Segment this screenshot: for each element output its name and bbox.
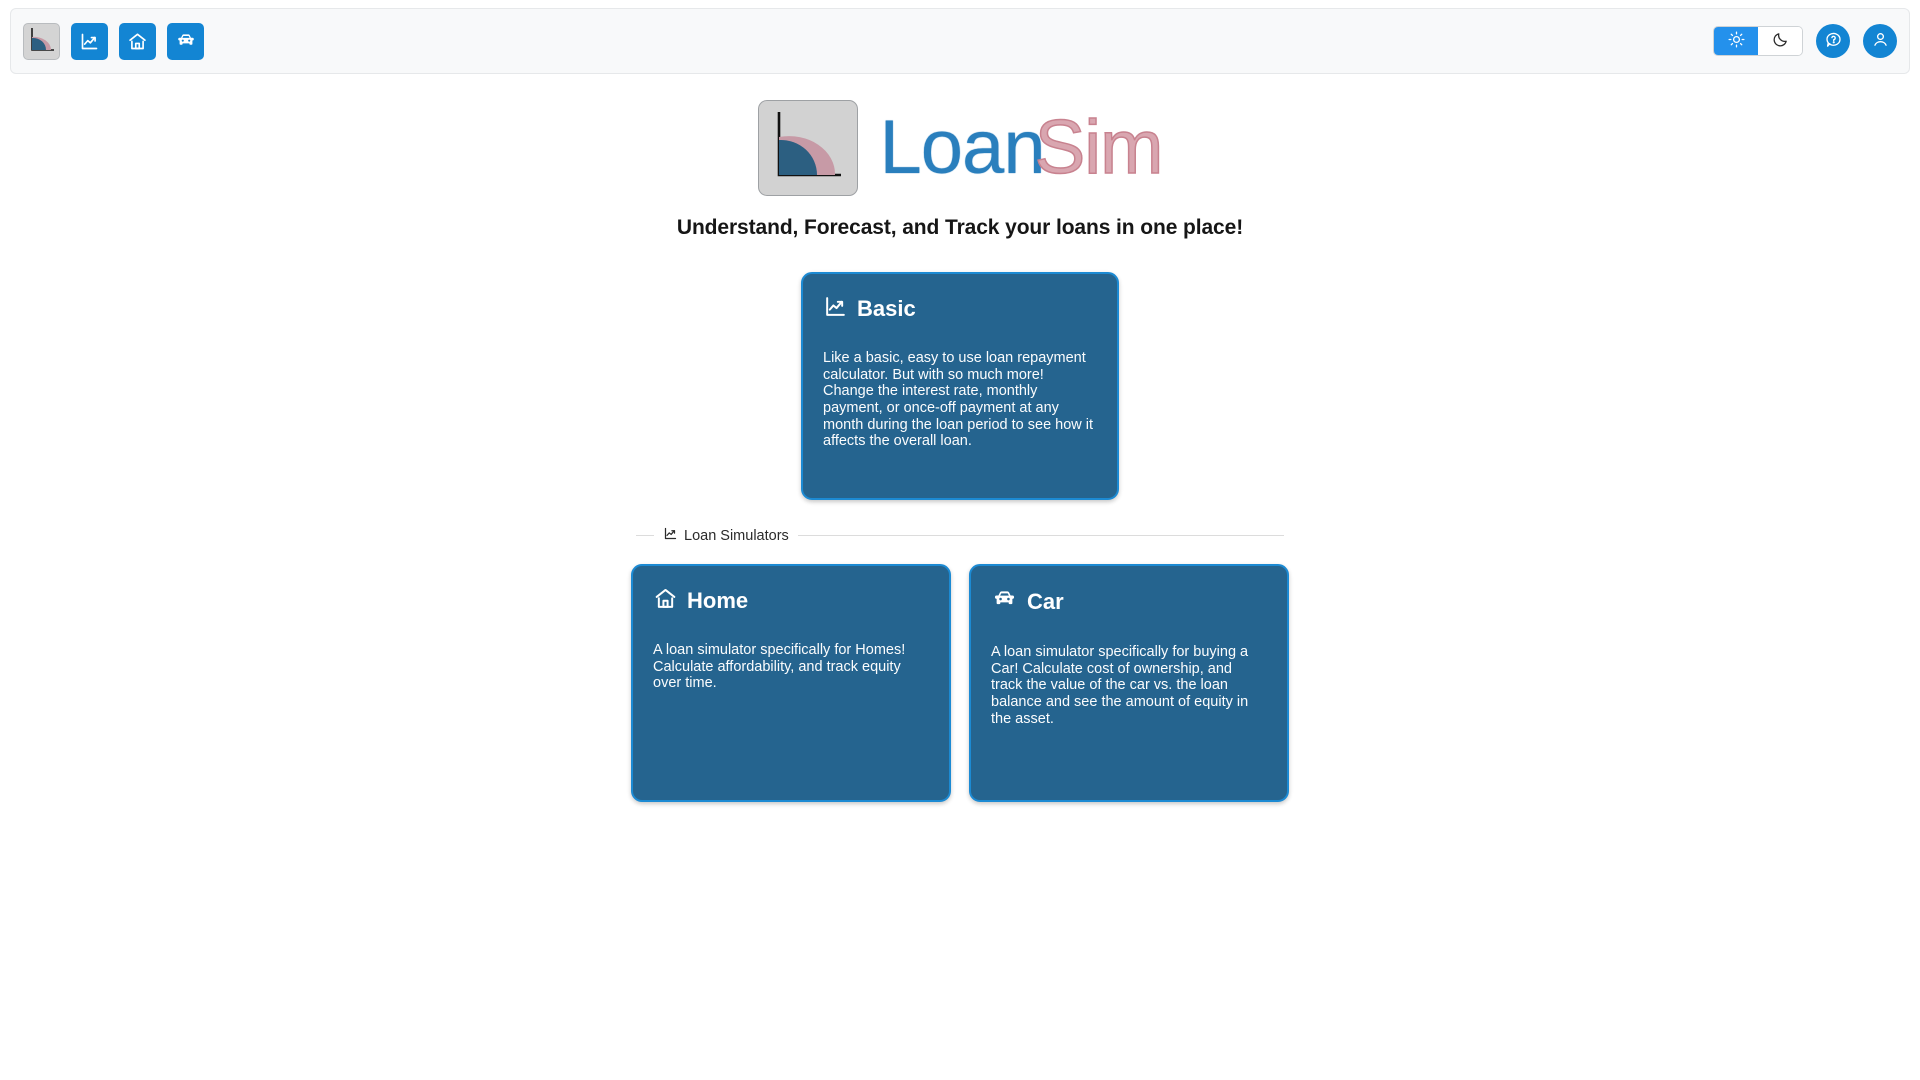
divider-line-right bbox=[798, 535, 1284, 536]
nav-basic-button[interactable] bbox=[71, 23, 108, 60]
brand-header: Loan Sim bbox=[758, 100, 1163, 196]
brand-wordmark: Loan Sim bbox=[880, 110, 1163, 186]
simulator-cards-row: Home A loan simulator specifically for H… bbox=[631, 564, 1289, 802]
loansim-logo-icon bbox=[27, 25, 57, 57]
main-content: Loan Sim Understand, Forecast, and Track… bbox=[0, 74, 1920, 802]
sun-icon bbox=[1728, 31, 1745, 51]
car-simulator-card[interactable]: Car A loan simulator specifically for bu… bbox=[969, 564, 1289, 802]
divider-line-left bbox=[636, 535, 654, 536]
loan-simulators-divider: Loan Simulators bbox=[636, 526, 1284, 545]
home-icon bbox=[653, 586, 678, 616]
chat-question-icon bbox=[1824, 30, 1843, 52]
divider-label-text: Loan Simulators bbox=[684, 528, 789, 544]
nav-car-button[interactable] bbox=[167, 23, 204, 60]
account-button[interactable] bbox=[1863, 24, 1897, 58]
theme-dark-button[interactable] bbox=[1758, 27, 1802, 55]
chart-line-icon bbox=[663, 526, 678, 545]
navbar-brand-logo-button[interactable] bbox=[23, 23, 60, 60]
home-simulator-card[interactable]: Home A loan simulator specifically for H… bbox=[631, 564, 951, 802]
home-card-header: Home bbox=[653, 586, 929, 616]
top-navbar bbox=[10, 8, 1910, 74]
home-card-description: A loan simulator specifically for Homes!… bbox=[653, 642, 921, 692]
chart-line-icon bbox=[823, 294, 848, 324]
car-card-title: Car bbox=[1027, 591, 1064, 613]
theme-toggle[interactable] bbox=[1713, 26, 1803, 56]
navbar-right-group bbox=[1713, 24, 1897, 58]
nav-home-button[interactable] bbox=[119, 23, 156, 60]
brand-name-loan: Loan bbox=[880, 110, 1045, 186]
user-icon bbox=[1871, 30, 1890, 52]
moon-icon bbox=[1772, 31, 1789, 51]
divider-label: Loan Simulators bbox=[663, 526, 789, 545]
car-icon bbox=[991, 586, 1018, 618]
basic-card[interactable]: Basic Like a basic, easy to use loan rep… bbox=[801, 272, 1119, 500]
loansim-chart-logo-icon bbox=[765, 105, 851, 192]
home-icon bbox=[127, 31, 148, 52]
brand-name-sim: Sim bbox=[1035, 110, 1163, 186]
brand-logo bbox=[758, 100, 858, 196]
navbar-left-group bbox=[23, 23, 204, 60]
car-icon bbox=[175, 30, 197, 52]
page-tagline: Understand, Forecast, and Track your loa… bbox=[677, 216, 1243, 240]
feedback-button[interactable] bbox=[1816, 24, 1850, 58]
home-card-title: Home bbox=[687, 590, 748, 612]
chart-line-icon bbox=[79, 31, 100, 52]
car-card-description: A loan simulator specifically for buying… bbox=[991, 644, 1263, 727]
theme-light-button[interactable] bbox=[1714, 27, 1758, 55]
basic-card-title: Basic bbox=[857, 298, 916, 320]
car-card-header: Car bbox=[991, 586, 1267, 618]
basic-card-description: Like a basic, easy to use loan repayment… bbox=[823, 350, 1097, 450]
basic-card-header: Basic bbox=[823, 294, 1097, 324]
